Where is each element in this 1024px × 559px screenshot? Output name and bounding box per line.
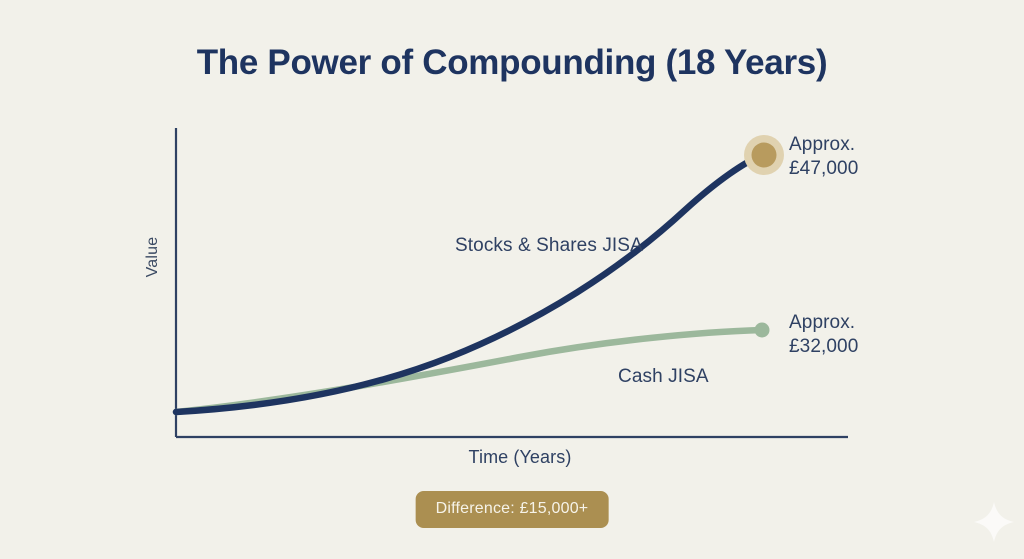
callout-stocks-jisa: Approx. £47,000 (789, 133, 858, 182)
stocks-jisa-endpoint-marker (752, 143, 777, 168)
y-axis-label: Value (144, 222, 162, 292)
callout-cash-line1: Approx. (789, 312, 855, 333)
compounding-chart-slide: The Power of Compounding (18 Years) Valu… (0, 0, 1024, 559)
cash-jisa-endpoint-marker (755, 323, 770, 338)
callout-stocks-amount: £47,000 (789, 157, 858, 181)
series-label-stocks-shares-jisa: Stocks & Shares JISA (455, 235, 643, 257)
callout-cash-jisa: Approx. £32,000 (789, 311, 858, 360)
callout-cash-amount: £32,000 (789, 335, 858, 359)
callout-stocks-line1: Approx. (789, 134, 855, 155)
difference-badge: Difference: £15,000+ (416, 491, 609, 528)
series-label-cash-jisa: Cash JISA (618, 366, 709, 388)
x-axis-label: Time (Years) (400, 447, 640, 468)
sparkle-icon (972, 500, 1016, 544)
